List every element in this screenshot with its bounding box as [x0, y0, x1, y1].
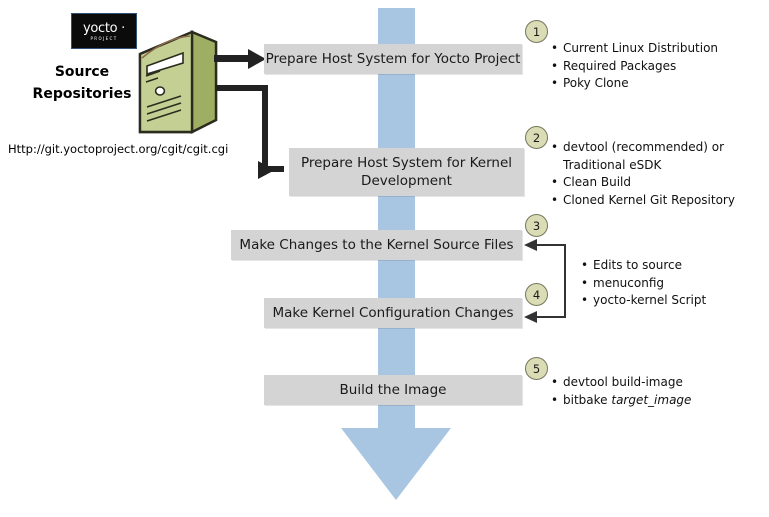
source-repositories-label: Source Repositories [22, 62, 142, 105]
process-box-step1[interactable]: Prepare Host System for Yocto Project [264, 44, 522, 74]
connector-server-to-step2-horizontal [215, 85, 268, 91]
list-item: devtool (recommended) or Traditional eSD… [551, 139, 756, 174]
bullet-list-step2: devtool (recommended) or Traditional eSD… [551, 139, 756, 210]
step-number-5: 5 [525, 357, 548, 380]
connector-server-to-step2-vertical [262, 85, 268, 172]
process-box-step5[interactable]: Build the Image [264, 375, 522, 405]
list-item-emphasis: target_image [611, 393, 691, 407]
source-label-line1: Source [22, 62, 142, 84]
arrowhead-to-step2 [258, 161, 275, 179]
list-item: devtool build-image [551, 374, 756, 392]
bracket-connector-vertical [564, 244, 566, 318]
source-repository-url: Http://git.yoctoproject.org/cgit/cgit.cg… [8, 142, 228, 156]
list-item: menuconfig [581, 275, 756, 293]
server-tower-icon [136, 28, 220, 138]
bullet-list-steps-3-and-4: Edits to source menuconfig yocto-kernel … [581, 257, 756, 310]
list-item: Current Linux Distribution [551, 40, 756, 58]
list-item: bitbake target_image [551, 392, 756, 410]
yocto-project-logo: yocto · PROJECT [71, 13, 137, 49]
list-item: Edits to source [581, 257, 756, 275]
bracket-connector-to-step4 [536, 316, 566, 318]
main-flow-arrow-head [341, 428, 451, 500]
logo-wordmark: yocto · [83, 22, 125, 35]
step-number-1: 1 [525, 20, 548, 43]
list-item: Required Packages [551, 58, 756, 76]
list-item: Cloned Kernel Git Repository [551, 192, 756, 210]
list-item-text: devtool build-image [563, 375, 683, 389]
diagram-canvas: yocto · PROJECT Source Repositories Http… [0, 0, 769, 517]
step-number-2: 2 [525, 126, 548, 149]
step-number-4: 4 [525, 283, 548, 306]
arrowhead-to-step4 [524, 311, 537, 323]
source-label-line2: Repositories [22, 84, 142, 106]
bullet-list-step5: devtool build-image bitbake target_image [551, 374, 756, 409]
arrowhead-to-step3 [524, 239, 537, 251]
connector-server-to-step1 [214, 55, 251, 62]
list-item: Poky Clone [551, 75, 756, 93]
bracket-connector-to-step3 [536, 244, 566, 246]
step-number-3: 3 [525, 214, 548, 237]
process-box-step2[interactable]: Prepare Host System for Kernel Developme… [289, 148, 524, 196]
list-item: Clean Build [551, 174, 756, 192]
bullet-list-step1: Current Linux Distribution Required Pack… [551, 40, 756, 93]
process-box-step3[interactable]: Make Changes to the Kernel Source Files [231, 230, 522, 260]
list-item: yocto-kernel Script [581, 292, 756, 310]
logo-subtitle: PROJECT [90, 37, 117, 41]
process-box-step4[interactable]: Make Kernel Configuration Changes [264, 298, 522, 328]
list-item-text: bitbake [563, 393, 611, 407]
